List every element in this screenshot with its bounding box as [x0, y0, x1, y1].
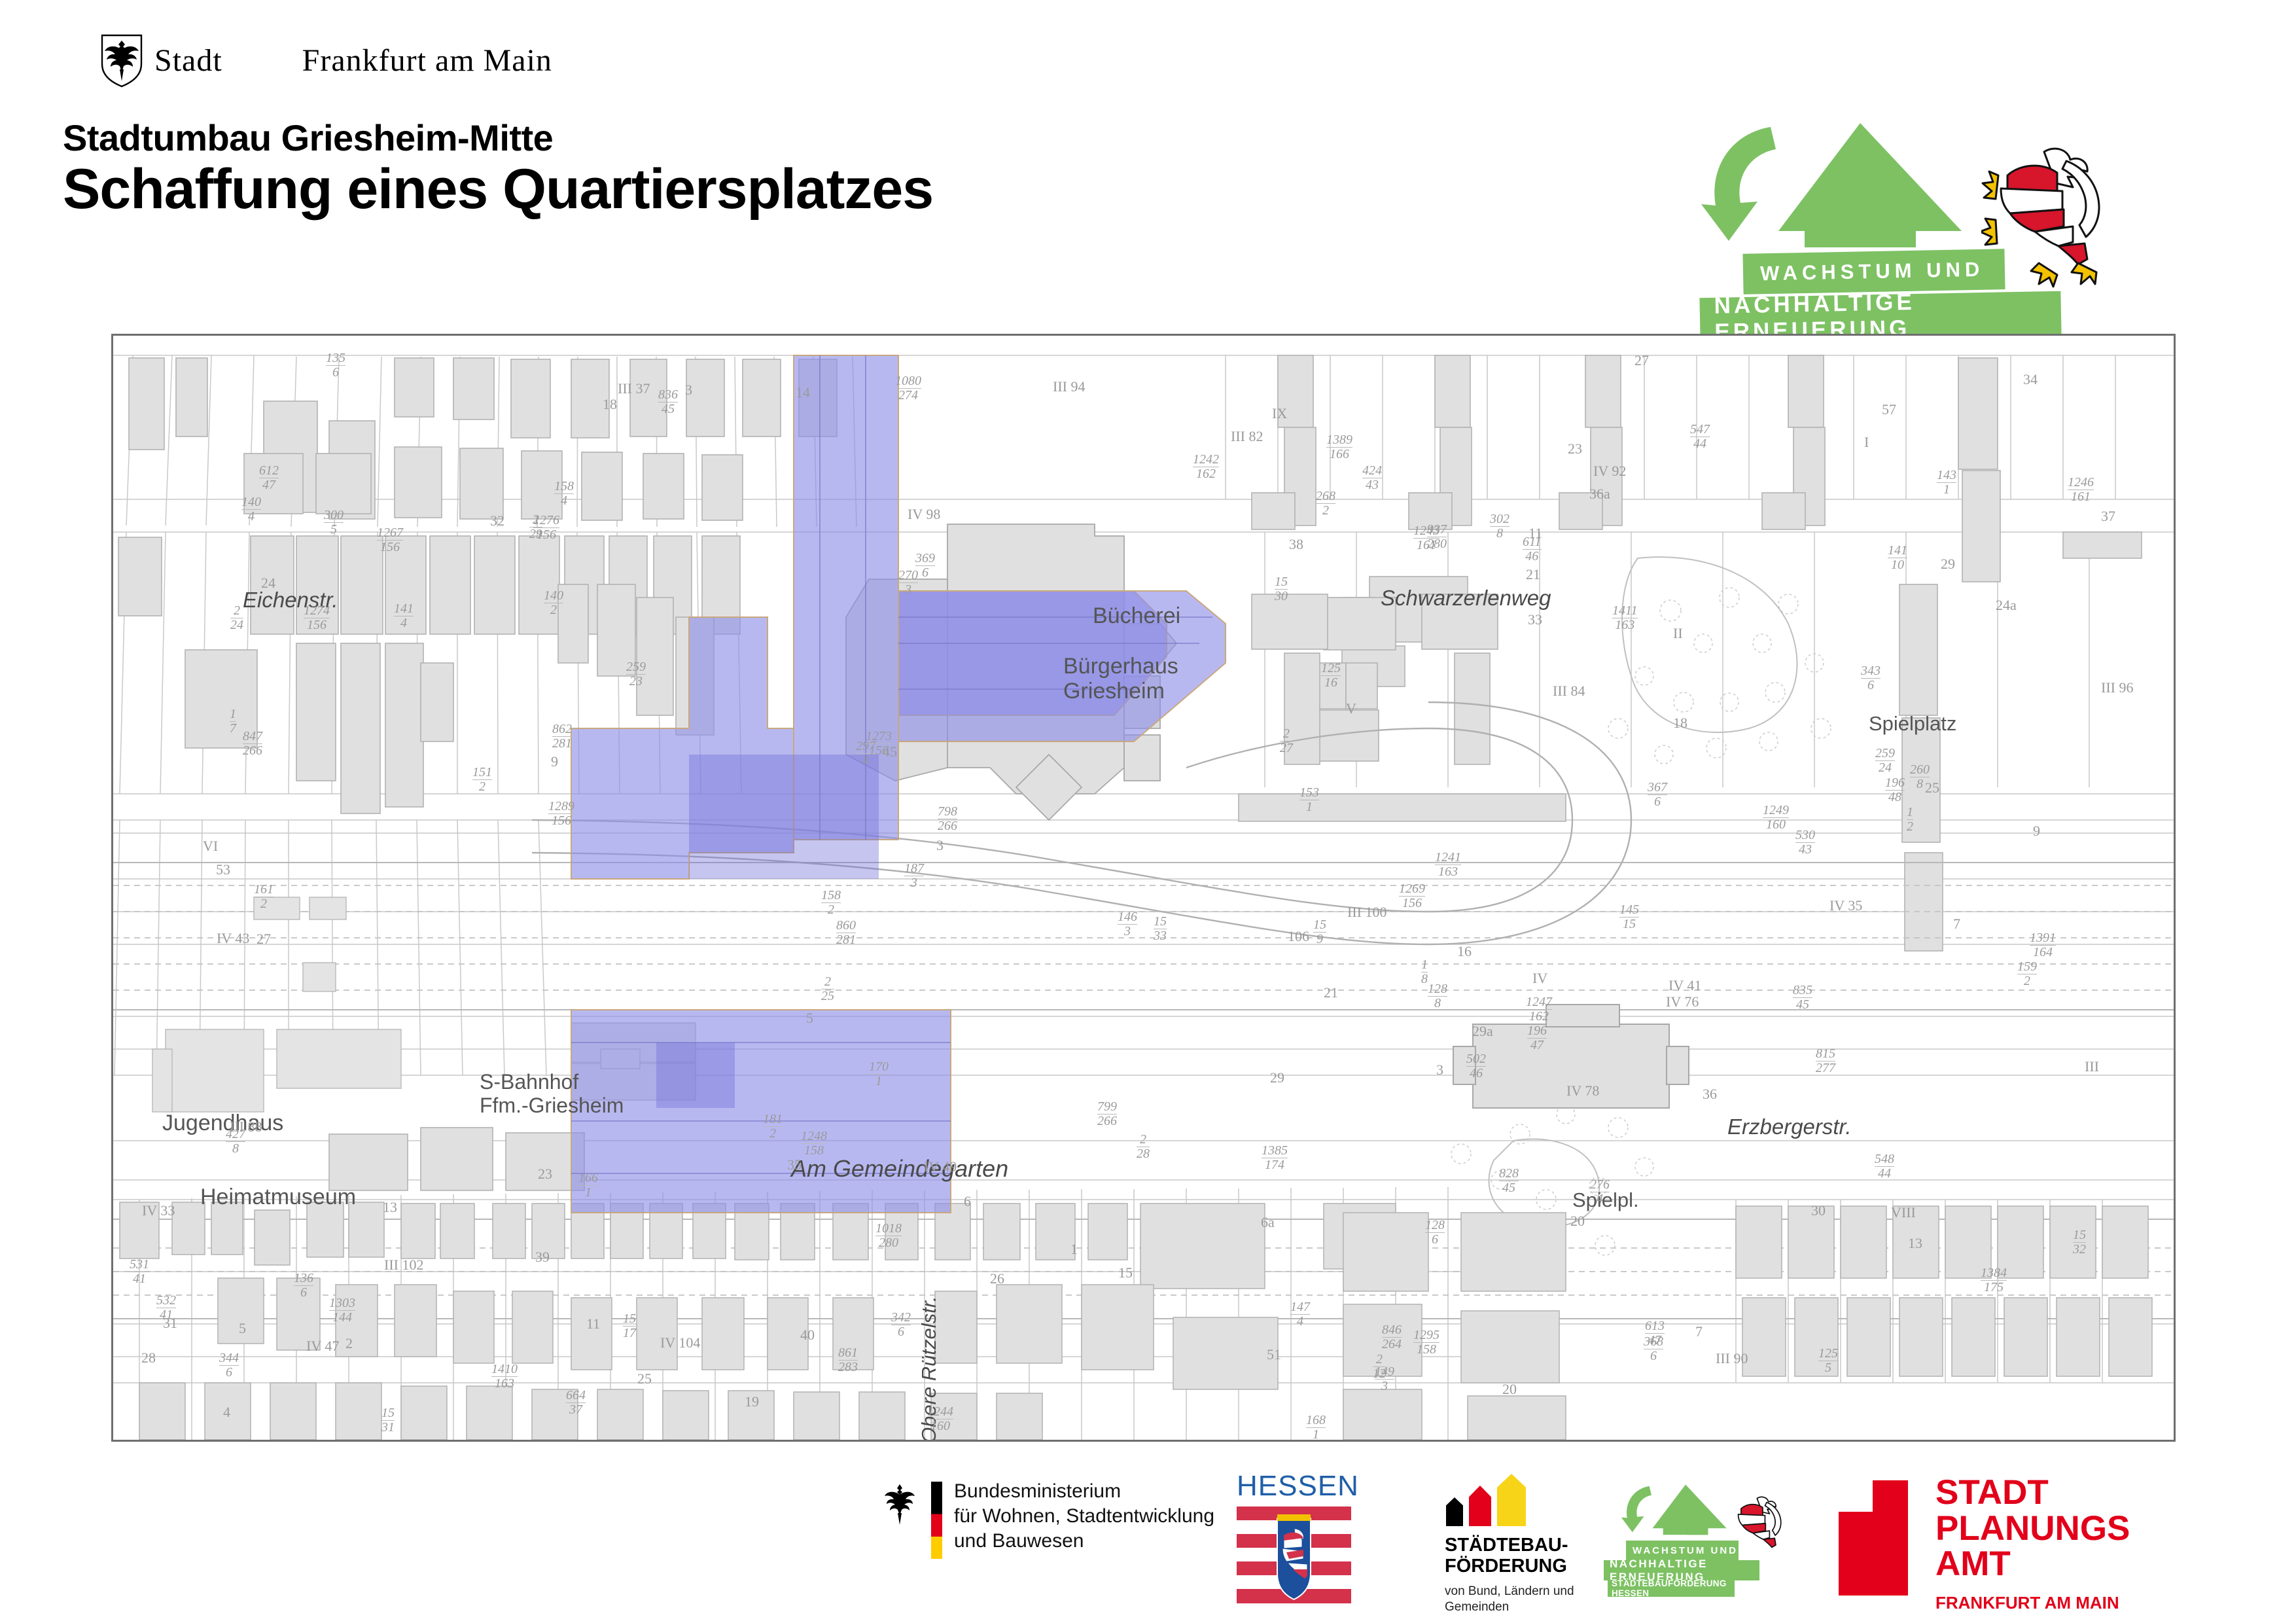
- stadtplanungsamt-logo: STADT PLANUNGS AMT FRANKFURT AM MAIN: [1839, 1475, 2130, 1613]
- poi-label-buergerhaus-griesheim: Bürgerhaus Griesheim: [1063, 654, 1178, 704]
- staedtebau-text: STÄDTEBAU- FÖRDERUNG: [1433, 1535, 1583, 1577]
- city-logo-frankfurt: Frankfurt am Main: [302, 43, 552, 78]
- stadtplanungsamt-line3: AMT: [1935, 1546, 2130, 1582]
- hessen-wordmark: HESSEN: [1237, 1470, 1351, 1503]
- bmwsb-text: Bundesministerium für Wohnen, Stadtentwi…: [954, 1479, 1214, 1554]
- german-flag-bar-icon: [931, 1482, 942, 1559]
- hessen-flag-crest-icon: [1237, 1507, 1351, 1603]
- program-ribbon-line1: WACHSTUM UND: [1742, 249, 2005, 294]
- street-label-eichenstr: Eichenstr.: [243, 588, 338, 613]
- page-subtitle: Stadtumbau Griesheim-Mitte: [63, 116, 553, 159]
- city-logo-wordmark: Stadt Frankfurt am Main: [154, 45, 552, 77]
- stadtplanungsamt-text: STADT PLANUNGS AMT FRANKFURT AM MAIN: [1935, 1475, 2130, 1613]
- hessen-logo: HESSEN: [1237, 1470, 1351, 1607]
- footer-program-ribbon-line3: STÄDTEBAUFÖRDERUNG HESSEN: [1608, 1580, 1735, 1597]
- page-header: Stadt Frankfurt am Main Stadtumbau Gries…: [0, 0, 2296, 308]
- staedtebau-line2: FÖRDERUNG: [1445, 1556, 1583, 1577]
- staedtebau-subtext: von Bund, Ländern und Gemeinden: [1433, 1584, 1583, 1615]
- footer-program-ribbon-line2: NACHHALTIGE ERNEUERUNG: [1604, 1560, 1759, 1580]
- staedtebaufoerderung-logo: STÄDTEBAU- FÖRDERUNG von Bund, Ländern u…: [1433, 1474, 1583, 1614]
- three-houses-icon: [1433, 1474, 1583, 1526]
- stadtplanungsamt-line2: PLANUNGS: [1935, 1511, 2130, 1547]
- poi-label-buecherei: Bücherei: [1093, 603, 1180, 629]
- staedtebau-sub2: Gemeinden: [1445, 1599, 1583, 1615]
- bmwsb-logo: Bundesministerium für Wohnen, Stadtentwi…: [880, 1479, 1214, 1559]
- frankfurt-eagle-crest-icon: [98, 33, 145, 89]
- stadtplanungsamt-sub: FRANKFURT AM MAIN: [1935, 1593, 2130, 1613]
- street-label-schwarzerlenweg: Schwarzerlenweg: [1381, 586, 1551, 611]
- city-logo-stadt: Stadt: [154, 43, 222, 78]
- bmwsb-line1: Bundesministerium: [954, 1479, 1214, 1504]
- bmwsb-line3: und Bauwesen: [954, 1529, 1214, 1554]
- street-label-obere-ruetzelstr: Obere Rützelstr.: [917, 1296, 941, 1442]
- poi-label-spielplatz: Spielplatz: [1869, 712, 1956, 736]
- poi-label-jugendhaus: Jugendhaus: [162, 1111, 283, 1136]
- poi-label-spielpl: Spielpl.: [1572, 1188, 1639, 1212]
- page-title: Schaffung eines Quartiersplatzes: [63, 157, 933, 222]
- map-canvas: [113, 336, 2174, 1440]
- poi-label-s-bahnhof: S-Bahnhof Ffm.-Griesheim: [480, 1071, 624, 1118]
- street-label-erzbergerstr: Erzbergerstr.: [1727, 1115, 1852, 1139]
- federal-eagle-icon: [880, 1482, 919, 1530]
- program-logo-footer: WACHSTUM UND NACHHALTIGE ERNEUERUNG STÄD…: [1606, 1480, 1796, 1605]
- staedtebau-sub1: von Bund, Ländern und: [1445, 1584, 1583, 1599]
- city-logo: Stadt Frankfurt am Main: [98, 31, 517, 90]
- stadtplanungsamt-line1: STADT: [1935, 1475, 2130, 1511]
- stadtplanungsamt-mark-icon: [1839, 1475, 1916, 1594]
- footer-logo-bar: Bundesministerium für Wohnen, Stadtentwi…: [0, 1466, 2296, 1623]
- staedtebau-line1: STÄDTEBAU-: [1445, 1535, 1583, 1556]
- bmwsb-line2: für Wohnen, Stadtentwicklung: [954, 1504, 1214, 1529]
- poi-label-heimatmuseum: Heimatmuseum: [200, 1185, 356, 1210]
- cadastral-map[interactable]: Eichenstr. Schwarzerlenweg Am Gemeindega…: [111, 334, 2176, 1442]
- street-label-am-gemeindegarten: Am Gemeindegarten: [791, 1155, 1008, 1183]
